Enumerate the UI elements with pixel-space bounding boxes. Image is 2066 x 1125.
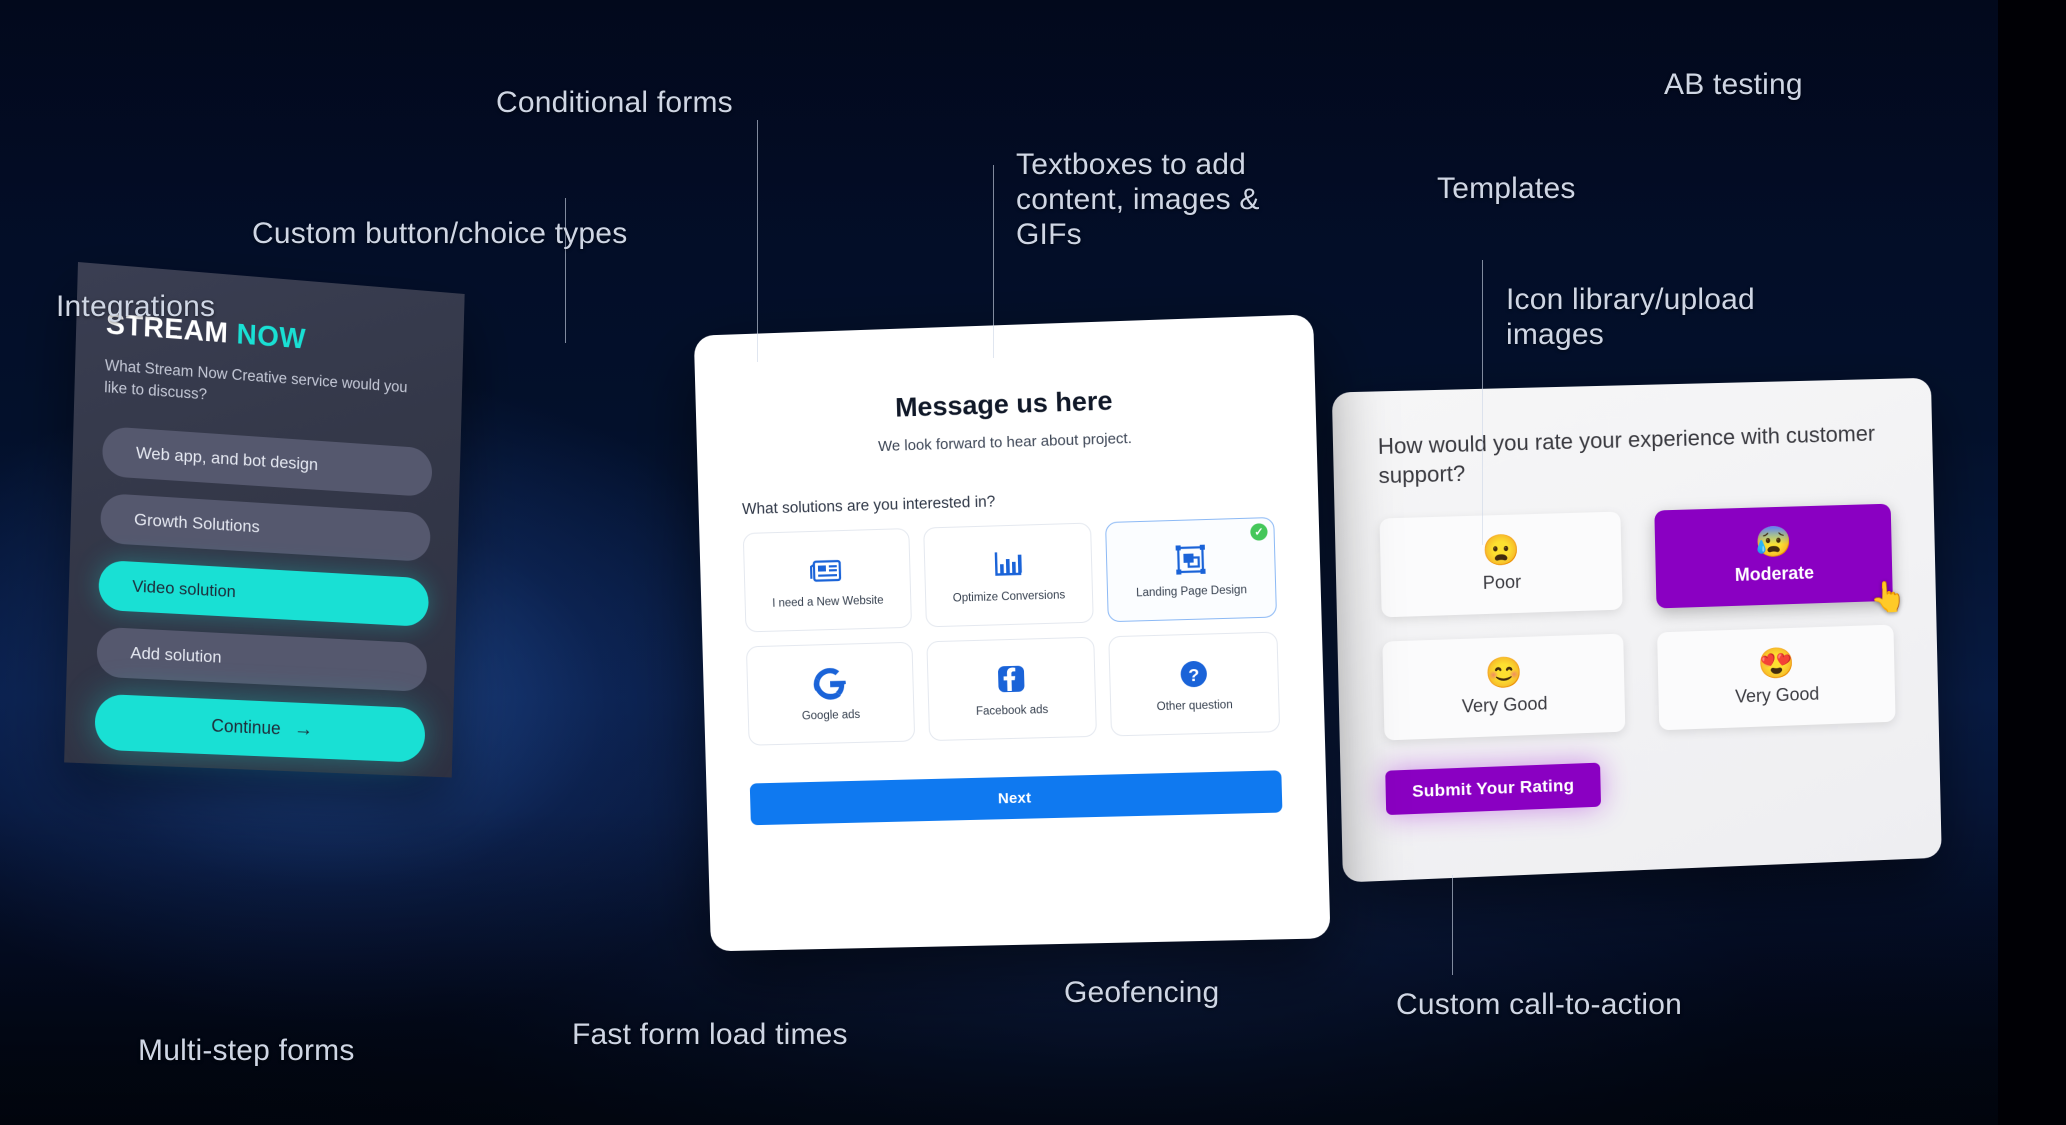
google-icon xyxy=(813,665,848,702)
next-button[interactable]: Next xyxy=(750,770,1283,825)
option-label: Optimize Conversions xyxy=(949,589,1070,604)
rating-option-very-good-smile[interactable]: 😊 Very Good xyxy=(1382,634,1625,741)
rating-label: Very Good xyxy=(1462,693,1548,717)
choice-label: Video solution xyxy=(132,577,236,602)
rating-label: Very Good xyxy=(1735,683,1820,707)
check-circle-icon: ✓ xyxy=(1250,523,1268,541)
rating-label: Moderate xyxy=(1735,562,1815,585)
rating-options-grid: 😦 Poor 😰 Moderate 👆 😊 Very Good 😍 Very G… xyxy=(1380,504,1896,741)
solution-options-grid: I need a New Website Optimize Con xyxy=(743,517,1280,746)
annotation-custom-cta: Custom call-to-action xyxy=(1396,988,1682,1023)
annotation-fast-load: Fast form load times xyxy=(572,1018,848,1053)
message-us-form-card: Message us here We look forward to hear … xyxy=(694,314,1331,951)
bar-chart-icon xyxy=(992,547,1025,584)
page-title: Message us here xyxy=(739,380,1271,429)
option-new-website[interactable]: I need a New Website xyxy=(743,528,912,632)
newspaper-icon xyxy=(810,552,845,589)
submit-rating-button[interactable]: Submit Your Rating xyxy=(1385,763,1601,816)
weary-face-icon: 😦 xyxy=(1482,535,1520,566)
annotation-icon-library: Icon library/upload images xyxy=(1506,283,1866,353)
choice-video-solution[interactable]: Video solution xyxy=(98,560,429,627)
choice-web-app-bot-design[interactable]: Web app, and bot design xyxy=(102,426,433,497)
annotation-integrations: Integrations xyxy=(56,290,215,325)
continue-button[interactable]: Continue → xyxy=(94,694,425,763)
rating-option-poor[interactable]: 😦 Poor xyxy=(1380,512,1623,618)
annotation-geofencing: Geofencing xyxy=(1064,976,1219,1011)
choice-add-solution[interactable]: Add solution xyxy=(96,627,427,692)
annotation-textboxes: Textboxes to add content, images & GIFs xyxy=(1016,148,1356,252)
stream-now-form-card: STREAM NOW What Stream Now Creative serv… xyxy=(64,262,465,777)
choice-label: Growth Solutions xyxy=(134,510,260,537)
option-facebook-ads[interactable]: Facebook ads xyxy=(926,637,1097,741)
facebook-icon xyxy=(995,661,1028,698)
rating-option-very-good-hearts[interactable]: 😍 Very Good xyxy=(1657,625,1896,731)
choice-label: Web app, and bot design xyxy=(136,443,319,475)
annotation-ab-testing: AB testing xyxy=(1664,68,1803,103)
option-label: Facebook ads xyxy=(972,704,1053,718)
option-label: Google ads xyxy=(798,709,865,723)
smiling-face-icon: 😊 xyxy=(1485,658,1523,689)
leader-line-textboxes xyxy=(993,165,994,358)
leader-line-conditional xyxy=(757,120,758,362)
option-other-question[interactable]: ? Other question xyxy=(1108,632,1280,737)
rating-label: Poor xyxy=(1483,571,1522,593)
page-subtitle: We look forward to hear about project. xyxy=(740,425,1272,459)
solutions-question: What solutions are you interested in? xyxy=(742,485,1274,519)
feature-overview-canvas: Integrations Custom button/choice types … xyxy=(0,0,1998,1125)
option-label: I need a New Website xyxy=(768,595,888,610)
option-label: Other question xyxy=(1153,699,1237,713)
rating-question: How would you rate your experience with … xyxy=(1378,418,1890,490)
annotation-conditional: Conditional forms xyxy=(496,86,733,121)
anxious-face-icon: 😰 xyxy=(1755,527,1793,558)
choice-label: Add solution xyxy=(130,643,222,667)
option-optimize-conversions[interactable]: Optimize Conversions xyxy=(923,522,1094,627)
continue-label: Continue xyxy=(211,716,281,740)
option-landing-page-design[interactable]: ✓ Landing Page Design xyxy=(1105,517,1277,622)
arrow-right-icon: → xyxy=(294,719,314,742)
heart-eyes-face-icon: 😍 xyxy=(1758,648,1796,679)
svg-text:?: ? xyxy=(1188,665,1200,685)
brand-accent: NOW xyxy=(236,319,306,356)
annotation-templates: Templates xyxy=(1437,172,1576,207)
leader-line-custom-cta xyxy=(1452,875,1453,975)
rating-option-moderate[interactable]: 😰 Moderate 👆 xyxy=(1654,504,1893,609)
hand-pointer-cursor-icon: 👆 xyxy=(1870,583,1907,614)
rating-survey-card: How would you rate your experience with … xyxy=(1332,378,1942,883)
leader-line-icon-library xyxy=(1482,260,1483,545)
question-mark-icon: ? xyxy=(1177,656,1210,693)
option-label: Landing Page Design xyxy=(1132,584,1251,599)
annotation-custom-button: Custom button/choice types xyxy=(252,217,627,252)
choice-growth-solutions[interactable]: Growth Solutions xyxy=(100,493,431,562)
annotation-multi-step: Multi-step forms xyxy=(138,1034,355,1069)
form-prompt: What Stream Now Creative service would y… xyxy=(104,355,422,422)
layers-frame-icon xyxy=(1174,541,1207,578)
option-google-ads[interactable]: Google ads xyxy=(746,642,915,746)
screenshot-stage: Integrations Custom button/choice types … xyxy=(0,0,2066,1125)
